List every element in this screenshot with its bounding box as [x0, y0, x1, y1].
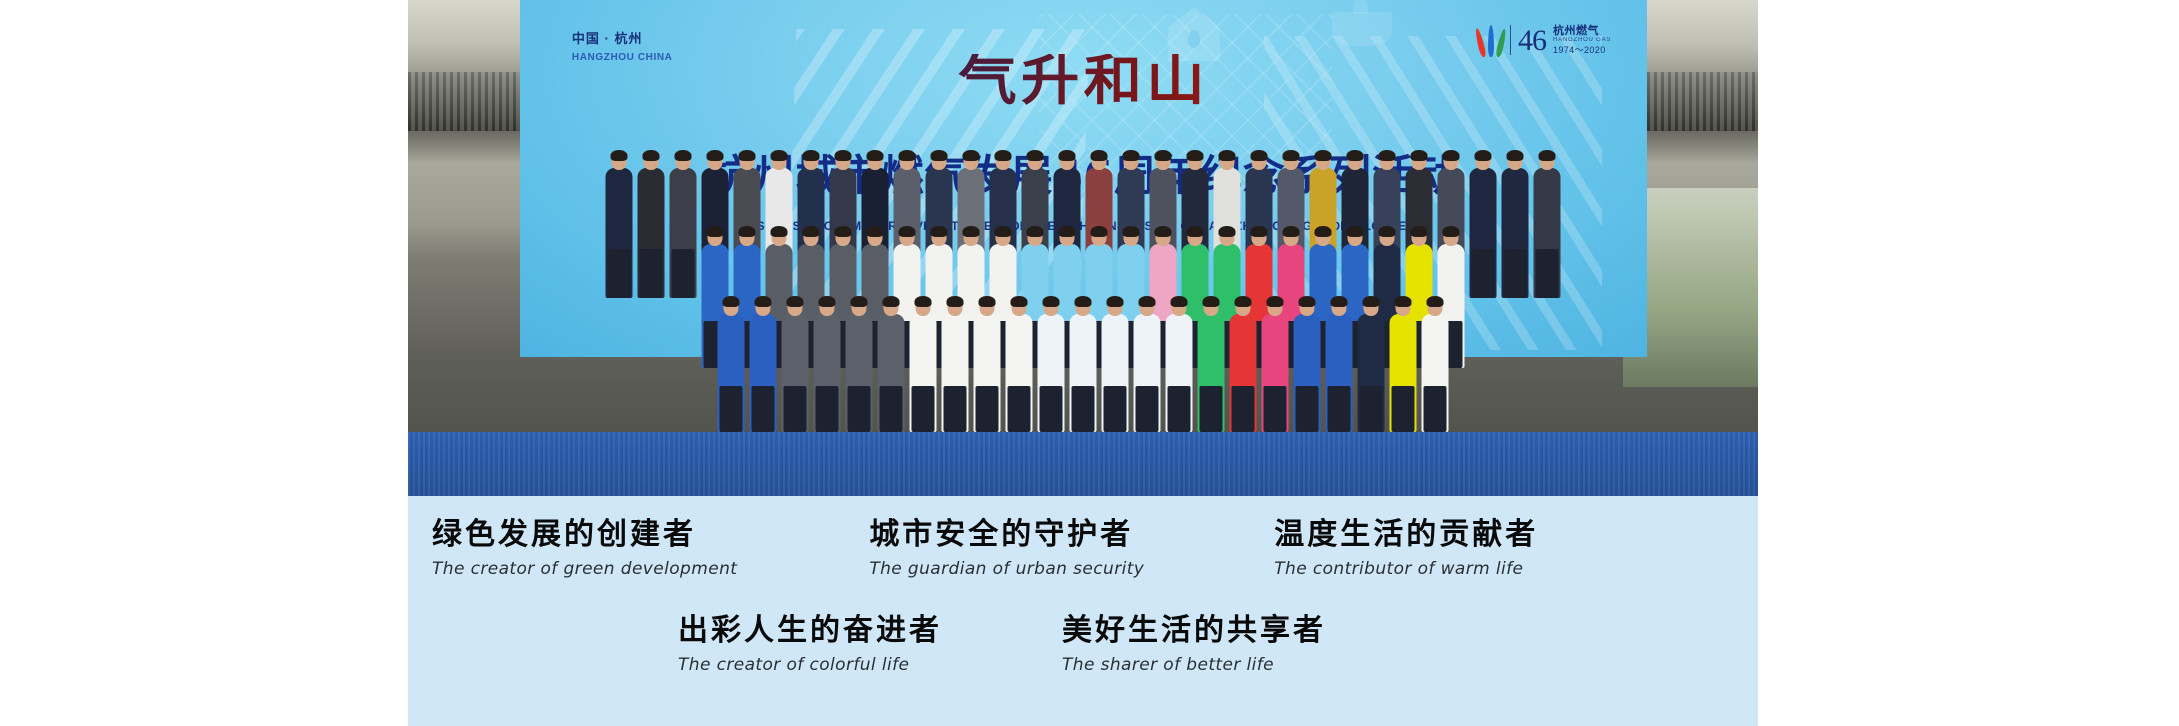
person: [748, 298, 779, 431]
person: [1068, 298, 1099, 431]
stage-floor: [408, 432, 1758, 496]
person: [876, 298, 907, 431]
slogan-item: 绿色发展的创建者 The creator of green developmen…: [432, 518, 737, 579]
art-calligraphy-logo: 气升和山: [520, 54, 1647, 108]
slogan-item: 城市安全的守护者 The guardian of urban security: [869, 518, 1144, 579]
crowd-row-front: [408, 298, 1758, 431]
person: [1004, 298, 1035, 431]
person: [1388, 298, 1419, 431]
slogan-row-1: 绿色发展的创建者 The creator of green developmen…: [408, 518, 1758, 579]
brand-text-block: 杭州燃气 HANGZHOU GAS 1974～2020: [1553, 25, 1611, 56]
person: [1356, 298, 1387, 431]
person: [1132, 298, 1163, 431]
brand-name-cn: 杭州燃气: [1553, 25, 1611, 38]
slogan-row-2: 出彩人生的奋进者 The creator of colorful life 美好…: [408, 614, 1758, 675]
group-photo: 中国 · 杭州 HANGZHOU CHINA 46 杭州燃气 HANGZHOU …: [408, 0, 1758, 496]
person: [1420, 298, 1451, 431]
person: [1228, 298, 1259, 431]
location-label-cn: 中国 · 杭州: [572, 30, 673, 48]
person: [1164, 298, 1195, 431]
slogan-cn: 出彩人生的奋进者: [678, 614, 942, 649]
logo-divider: [1510, 25, 1511, 55]
slogan-item: 出彩人生的奋进者 The creator of colorful life: [678, 614, 942, 675]
person: [1036, 298, 1067, 431]
person: [1260, 298, 1291, 431]
slogan-en: The contributor of warm life: [1274, 559, 1538, 579]
flame-icon: [1481, 23, 1503, 57]
slogan-en: The guardian of urban security: [869, 559, 1144, 579]
slogan-cn: 绿色发展的创建者: [432, 518, 737, 553]
slogan-item: 温度生活的贡献者 The contributor of warm life: [1274, 518, 1538, 579]
person: [940, 298, 971, 431]
poster-page: 中国 · 杭州 HANGZHOU CHINA 46 杭州燃气 HANGZHOU …: [0, 0, 2179, 726]
anniversary-number: 46: [1518, 26, 1546, 56]
person: [1324, 298, 1355, 431]
ship-icon: [1332, 12, 1392, 46]
slogan-item: 美好生活的共享者 The sharer of better life: [1062, 614, 1326, 675]
person: [1292, 298, 1323, 431]
person: [780, 298, 811, 431]
brand-name-en: HANGZHOU GAS: [1553, 37, 1611, 44]
slogan-en: The sharer of better life: [1062, 655, 1326, 675]
person: [844, 298, 875, 431]
slogan-en: The creator of colorful life: [678, 655, 942, 675]
crowd-group: [408, 114, 1758, 431]
person: [1196, 298, 1227, 431]
slogan-cn: 美好生活的共享者: [1062, 614, 1326, 649]
content-column: 中国 · 杭州 HANGZHOU CHINA 46 杭州燃气 HANGZHOU …: [408, 0, 1758, 726]
person: [812, 298, 843, 431]
person: [716, 298, 747, 431]
slogan-en: The creator of green development: [432, 559, 737, 579]
slogan-cn: 城市安全的守护者: [869, 518, 1144, 553]
person: [972, 298, 1003, 431]
person: [908, 298, 939, 431]
slogan-cn: 温度生活的贡献者: [1274, 518, 1538, 553]
brand-logo-lockup: 46 杭州燃气 HANGZHOU GAS 1974～2020: [1481, 23, 1611, 57]
person: [1100, 298, 1131, 431]
slogan-panel: 绿色发展的创建者 The creator of green developmen…: [408, 496, 1758, 726]
